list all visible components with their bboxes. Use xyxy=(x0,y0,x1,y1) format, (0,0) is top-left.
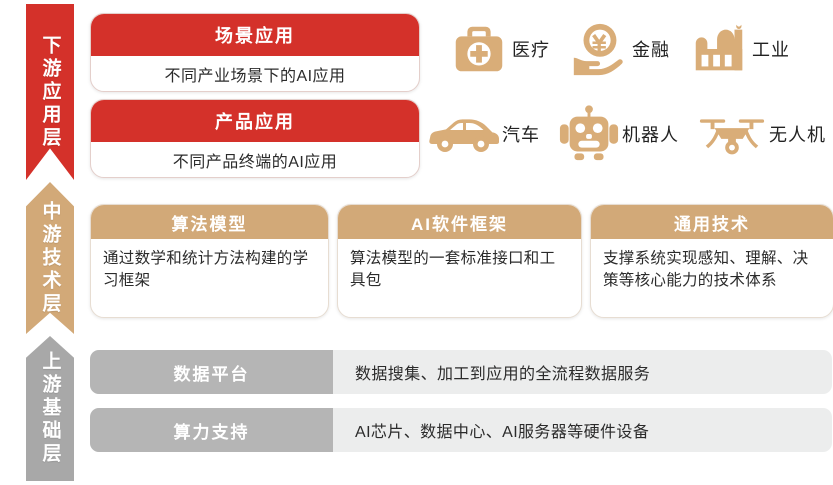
layer-ribbon-downstream: 下游应用层 xyxy=(26,4,74,180)
product-item-car-label: 汽车 xyxy=(502,121,540,147)
infrastructure-row-data-platform-desc: 数据搜集、加工到应用的全流程数据服务 xyxy=(333,350,832,394)
drone-icon xyxy=(697,103,767,165)
layer-ribbon-downstream-label: 下游应用层 xyxy=(41,35,60,150)
layer-ribbon-upstream-label: 上游基础层 xyxy=(41,351,60,466)
application-card-scene[interactable]: 场景应用 不同产业场景下的AI应用 xyxy=(90,13,420,92)
technology-card-framework[interactable]: AI软件框架 算法模型的一套标准接口和工具包 xyxy=(337,204,582,318)
layer-ribbon-upstream: 上游基础层 xyxy=(26,336,74,481)
technology-card-algorithm-desc: 通过数学和统计方法构建的学习框架 xyxy=(91,239,328,293)
infrastructure-row-compute-support-label: 算力支持 xyxy=(90,408,333,452)
robot-icon xyxy=(558,103,620,165)
diagram-canvas: 下游应用层 中游技术层 上游基础层 场景应用 不同产业场景下的AI应用 产品应用… xyxy=(0,0,833,485)
industry-item-finance: 金融 xyxy=(568,18,678,80)
industry-item-industry: 工业 xyxy=(688,18,798,80)
technology-card-algorithm[interactable]: 算法模型 通过数学和统计方法构建的学习框架 xyxy=(90,204,329,318)
product-item-robot-label: 机器人 xyxy=(622,121,679,147)
application-card-product-title: 产品应用 xyxy=(91,100,419,142)
technology-card-framework-title: AI软件框架 xyxy=(338,205,581,239)
industry-item-medical: 医疗 xyxy=(448,18,558,80)
application-card-scene-title: 场景应用 xyxy=(91,14,419,56)
application-card-product-desc: 不同产品终端的AI应用 xyxy=(91,142,419,177)
industry-item-industry-label: 工业 xyxy=(752,36,790,62)
product-item-robot: 机器人 xyxy=(558,103,687,165)
product-icon-row: 汽车 机器人 xyxy=(428,103,833,165)
infrastructure-row-compute-support[interactable]: 算力支持 AI芯片、数据中心、AI服务器等硬件设备 xyxy=(90,408,832,452)
product-item-drone: 无人机 xyxy=(697,103,833,165)
technology-card-general-desc: 支撑系统实现感知、理解、决策等核心能力的技术体系 xyxy=(591,239,833,293)
layer-ribbon-midstream: 中游技术层 xyxy=(26,182,74,334)
technology-card-framework-desc: 算法模型的一套标准接口和工具包 xyxy=(338,239,581,293)
layer-ribbon-midstream-label: 中游技术层 xyxy=(41,201,60,316)
product-item-drone-label: 无人机 xyxy=(769,121,826,147)
industry-item-medical-label: 医疗 xyxy=(512,36,550,62)
hand-money-yuan-icon xyxy=(568,18,630,80)
car-icon xyxy=(428,103,500,165)
application-card-product[interactable]: 产品应用 不同产品终端的AI应用 xyxy=(90,99,420,178)
factory-icon xyxy=(688,18,750,80)
infrastructure-row-compute-support-desc: AI芯片、数据中心、AI服务器等硬件设备 xyxy=(333,408,832,452)
technology-card-general-title: 通用技术 xyxy=(591,205,833,239)
medical-kit-icon xyxy=(448,18,510,80)
technology-card-general[interactable]: 通用技术 支撑系统实现感知、理解、决策等核心能力的技术体系 xyxy=(590,204,833,318)
industry-item-finance-label: 金融 xyxy=(632,36,670,62)
technology-card-algorithm-title: 算法模型 xyxy=(91,205,328,239)
application-card-scene-desc: 不同产业场景下的AI应用 xyxy=(91,56,419,91)
infrastructure-row-data-platform-label: 数据平台 xyxy=(90,350,333,394)
product-item-car: 汽车 xyxy=(428,103,548,165)
infrastructure-row-data-platform[interactable]: 数据平台 数据搜集、加工到应用的全流程数据服务 xyxy=(90,350,832,394)
industry-icon-row: 医疗 金融 工业 xyxy=(448,18,798,80)
